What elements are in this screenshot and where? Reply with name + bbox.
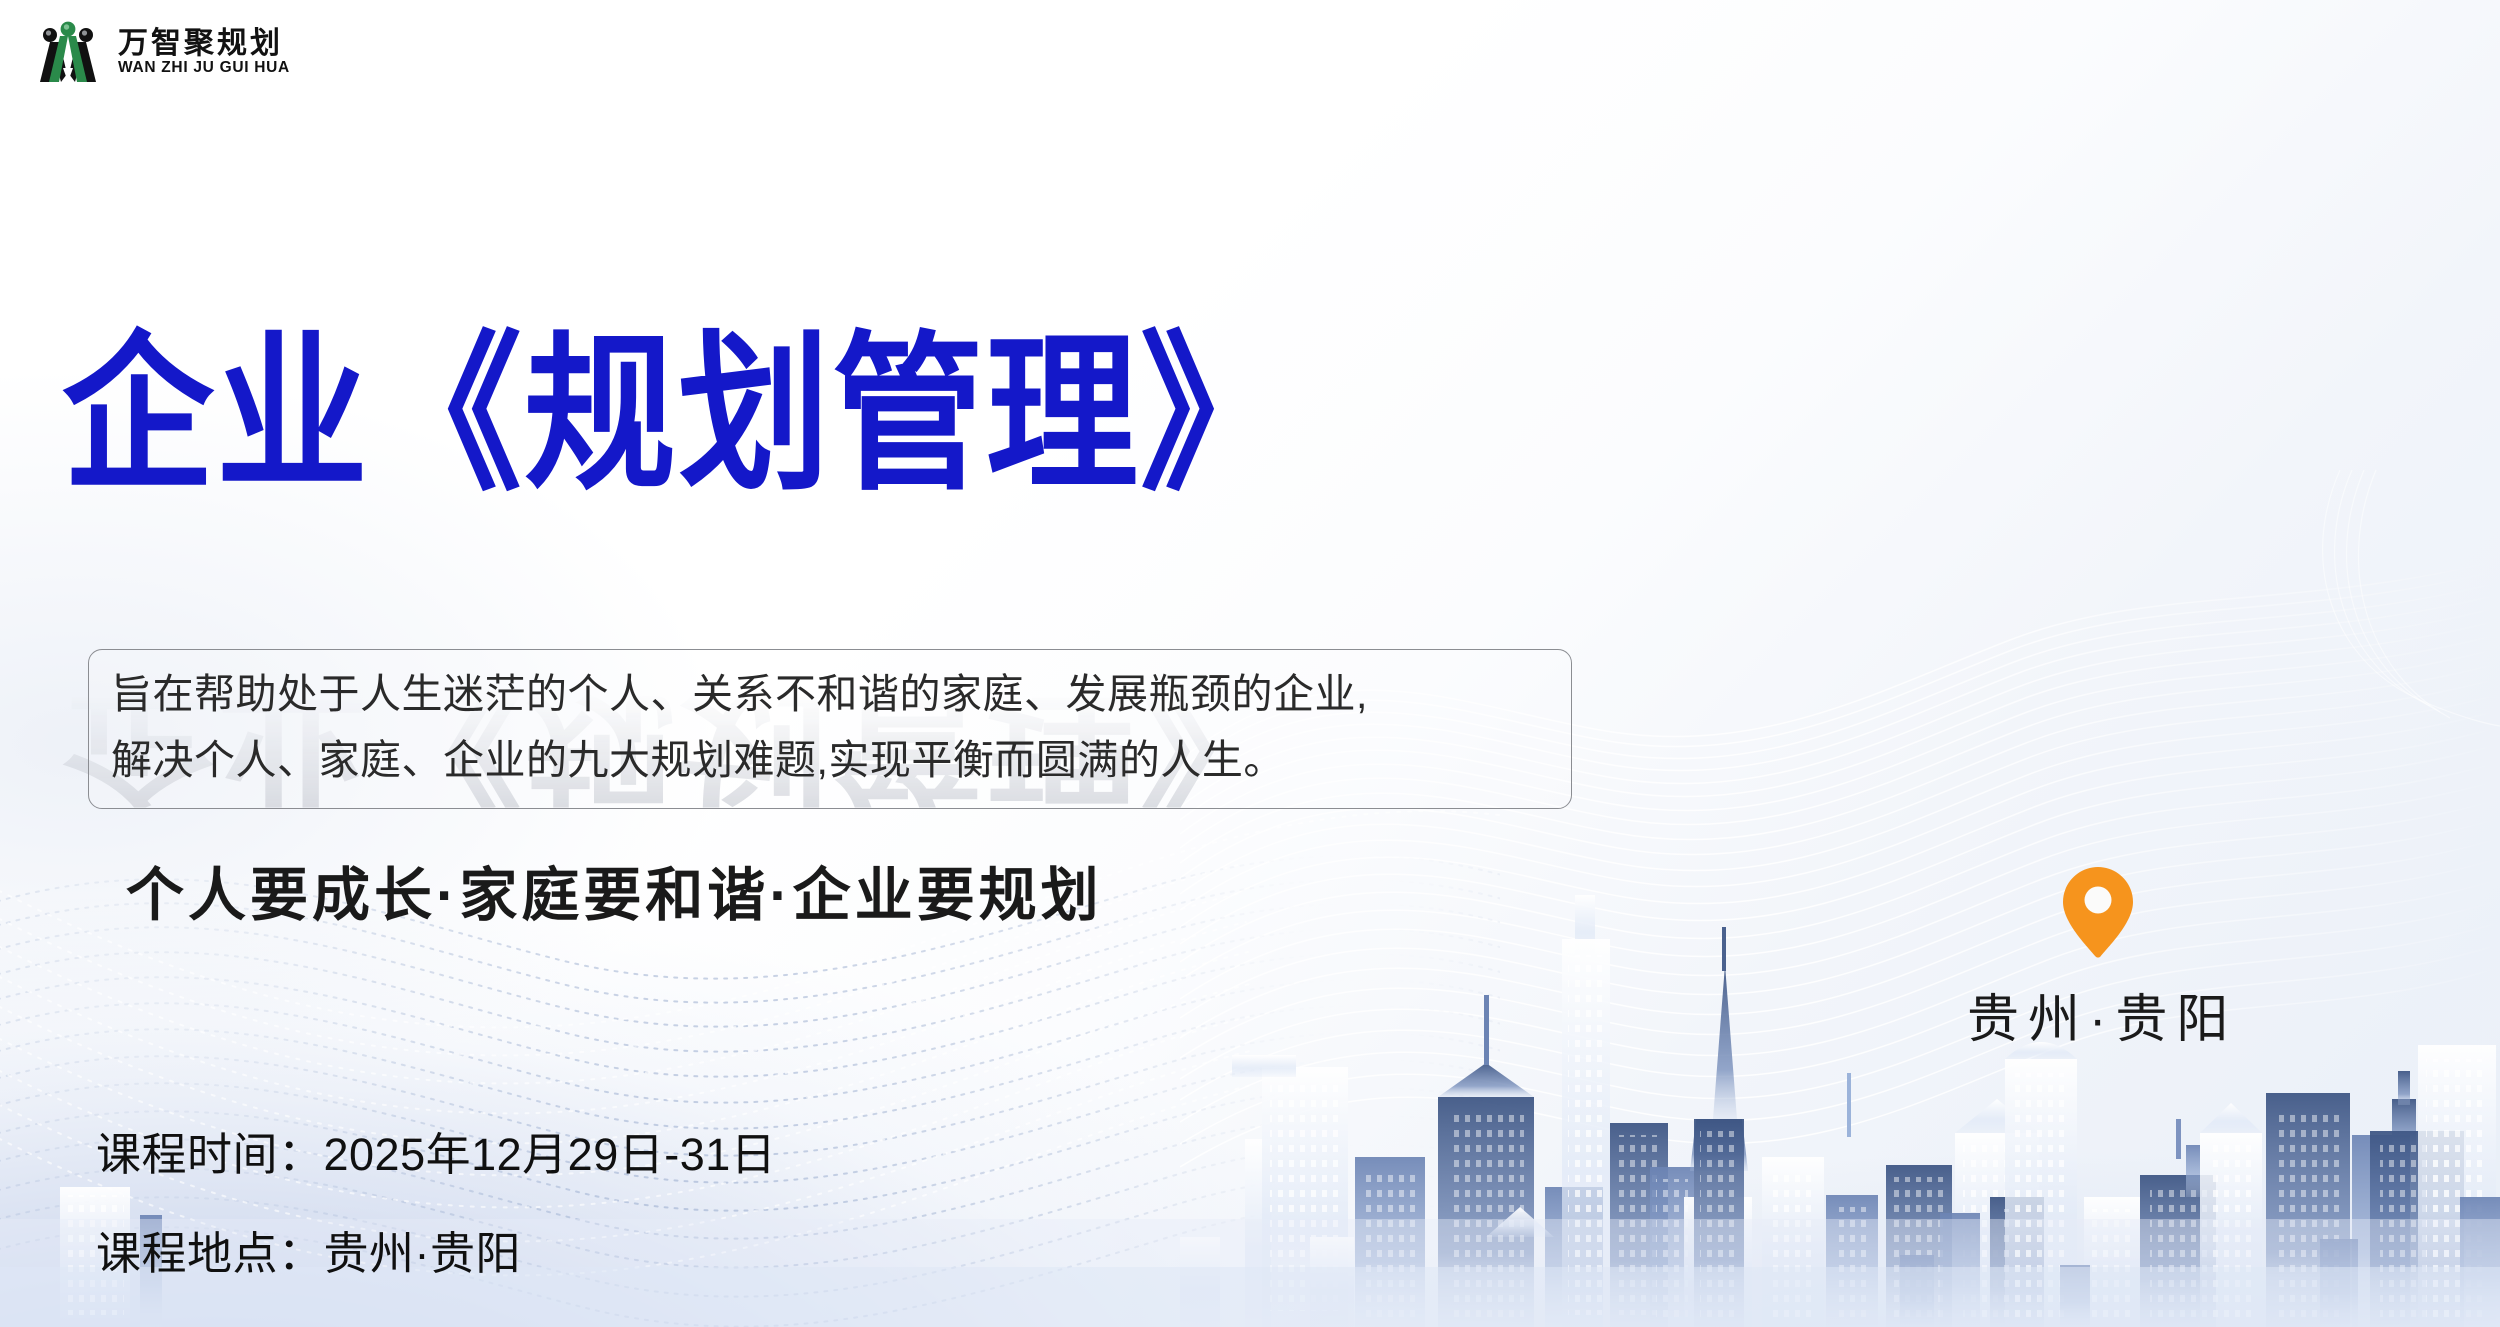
- three-people-logo-icon: [32, 18, 104, 86]
- location-badge: 贵州·贵阳: [1958, 865, 2237, 1052]
- course-location: 课程地点：贵州·贵阳: [96, 1217, 776, 1282]
- brand-name-cn: 万智聚规划: [118, 28, 290, 60]
- page-title: 企业《规划管理》: [62, 330, 1294, 500]
- description-line-1: 旨在帮助处于人生迷茫的个人、关系不和谐的家庭、发展瓶颈的企业,: [111, 661, 1549, 727]
- location-label: 贵州·贵阳: [1958, 977, 2237, 1052]
- hero-title-block: 企业《规划管理》 企业《规划管理》: [62, 330, 1294, 482]
- slogan-text: 个人要成长·家庭要和谐·企业要规划: [126, 848, 1103, 932]
- brand-name-pinyin: WAN ZHI JU GUI HUA: [118, 60, 290, 76]
- map-pin-icon: [2059, 865, 2137, 959]
- description-box: 旨在帮助处于人生迷茫的个人、关系不和谐的家庭、发展瓶颈的企业, 解决个人、家庭、…: [88, 649, 1572, 809]
- brand-logo-text: 万智聚规划 WAN ZHI JU GUI HUA: [118, 28, 290, 77]
- course-date: 课程时间：2025年12月29日-31日: [96, 1118, 776, 1183]
- brand-logo[interactable]: 万智聚规划 WAN ZHI JU GUI HUA: [32, 18, 290, 86]
- course-info-block: 课程时间：2025年12月29日-31日 课程地点：贵州·贵阳: [96, 1118, 776, 1282]
- poster-canvas: 万智聚规划 WAN ZHI JU GUI HUA 企业《规划管理》 企业《规划管…: [0, 0, 2500, 1327]
- description-line-2: 解决个人、家庭、企业的九大规划难题,实现平衡而圆满的人生。: [111, 727, 1549, 793]
